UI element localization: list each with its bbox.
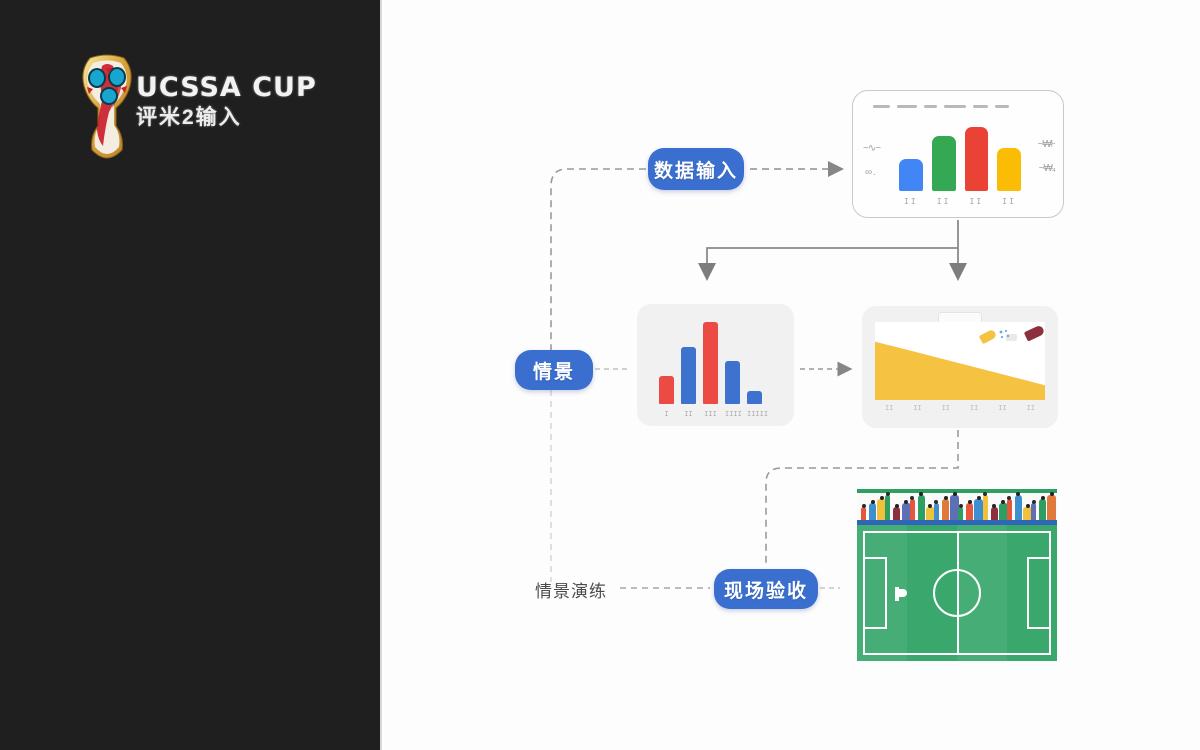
xtick-label: II [942, 404, 950, 412]
crowd-figure-head [944, 496, 948, 500]
crowd-figure [991, 507, 998, 520]
crowd-figure-head [862, 504, 866, 508]
crowd-figure [1015, 495, 1022, 520]
left-brand-panel: UCSSA CUP 评米2输入 [0, 0, 382, 750]
crowd-figure [893, 507, 900, 520]
board-face [875, 322, 1045, 400]
brand-logo: UCSSA CUP 评米2输入 [70, 52, 320, 162]
bar [659, 376, 674, 404]
crowd-figure-head [880, 496, 884, 500]
crowd-figure-head [953, 492, 957, 496]
squiggle-mark-left-2: ∞ . [865, 167, 875, 178]
crowd-figure [966, 503, 973, 520]
node-scenario[interactable]: 情景 [515, 350, 593, 390]
crowd-figure [958, 507, 963, 520]
squiggle-mark-right-1: ~₩⊦ [1038, 139, 1055, 150]
crowd-figure-head [895, 504, 899, 508]
brand-text: UCSSA CUP 评米2输入 [136, 74, 326, 129]
crowd-figure [1047, 495, 1056, 520]
crowd-figure [1031, 503, 1036, 520]
squiggle-mark-left-1: ~∿~ [863, 143, 880, 154]
xtick-label: III [703, 410, 718, 418]
crowd-figure-head [959, 504, 963, 508]
crowd-figure-head [1041, 496, 1045, 500]
brand-title: UCSSA CUP [136, 74, 326, 101]
bar [997, 148, 1021, 191]
brand-subtitle: 评米2输入 [136, 106, 326, 129]
center-circle [933, 569, 981, 617]
crowd-figure [910, 499, 915, 520]
node-onsite-acceptance[interactable]: 现场验收 [714, 569, 818, 609]
bar [681, 347, 696, 404]
crowd-figure [983, 495, 988, 520]
crowd-figure-head [1032, 500, 1036, 504]
penalty-box-right [1027, 557, 1051, 629]
crowd-figure [861, 507, 866, 520]
bar [703, 322, 718, 404]
xtick-label: II [1027, 404, 1035, 412]
crowd-figure-head [977, 496, 981, 500]
squiggle-mark-right-2: ~₩₄ [1039, 163, 1055, 174]
crowd-figure-head [1026, 504, 1030, 508]
pitch-field [857, 525, 1057, 661]
xtick-label: II [997, 197, 1021, 206]
xtick-label: II [970, 404, 978, 412]
goal-marker-b [898, 589, 907, 597]
football-pitch-illustration [857, 489, 1057, 661]
xtick-label: II [998, 404, 1006, 412]
bar [725, 361, 740, 404]
xtick-label: IIII [725, 410, 740, 418]
crowd-figure [918, 495, 925, 520]
bar [747, 391, 762, 404]
bar-group-mid [659, 322, 771, 404]
bar [899, 159, 923, 191]
xtick-label: IIIII [747, 410, 762, 418]
sparkle-icon [997, 328, 1013, 342]
placeholder-legend-lines [873, 105, 1009, 108]
xtick-label: I [659, 410, 674, 418]
xtick-label: II [932, 197, 956, 206]
node-data-input[interactable]: 数据输入 [648, 148, 744, 190]
crowd-figure-head [1050, 492, 1054, 496]
crowd-figure [942, 499, 949, 520]
area-chart-descending [875, 322, 1045, 400]
crowd-figure-head [983, 492, 987, 496]
crowd-figure [934, 503, 939, 520]
crowd-figure-head [886, 492, 890, 496]
stadium-stand [857, 489, 1057, 525]
node-scenario-drill: 情景演练 [535, 577, 607, 602]
penalty-box-left [863, 557, 887, 629]
xtick-label: II [681, 410, 696, 418]
xtick-row-mid: IIIIIIIIIIIIIII [659, 410, 771, 418]
crowd-figure-head [871, 500, 875, 504]
crowd-figure [1007, 499, 1012, 520]
crowd-figure [1039, 499, 1046, 520]
bar [932, 136, 956, 191]
crowd-figure [869, 503, 876, 520]
world-cup-trophy-icon [72, 54, 142, 160]
xtick-label: II [913, 404, 921, 412]
bar [965, 127, 989, 191]
crowd-figure-head [968, 500, 972, 504]
chart-card-top: ~∿~ ∞ . ~₩⊦ ~₩₄ IIIIIIII [852, 90, 1064, 218]
xtick-row-board: IIIIIIIIIIII [875, 404, 1045, 412]
crowd-figure [885, 495, 890, 520]
chart-card-mid-bars: IIIIIIIIIIIIIII [637, 304, 794, 426]
xtick-label: II [965, 197, 989, 206]
xtick-label: II [899, 197, 923, 206]
crowd-figure-head [904, 500, 908, 504]
slide-root: UCSSA CUP 评米2输入 [0, 0, 1200, 750]
xtick-row-top: IIIIIIII [899, 197, 1021, 206]
tactical-board-card: IIIIIIIIIIII [862, 306, 1058, 428]
xtick-label: II [885, 404, 893, 412]
bar-group-top [899, 115, 1021, 191]
